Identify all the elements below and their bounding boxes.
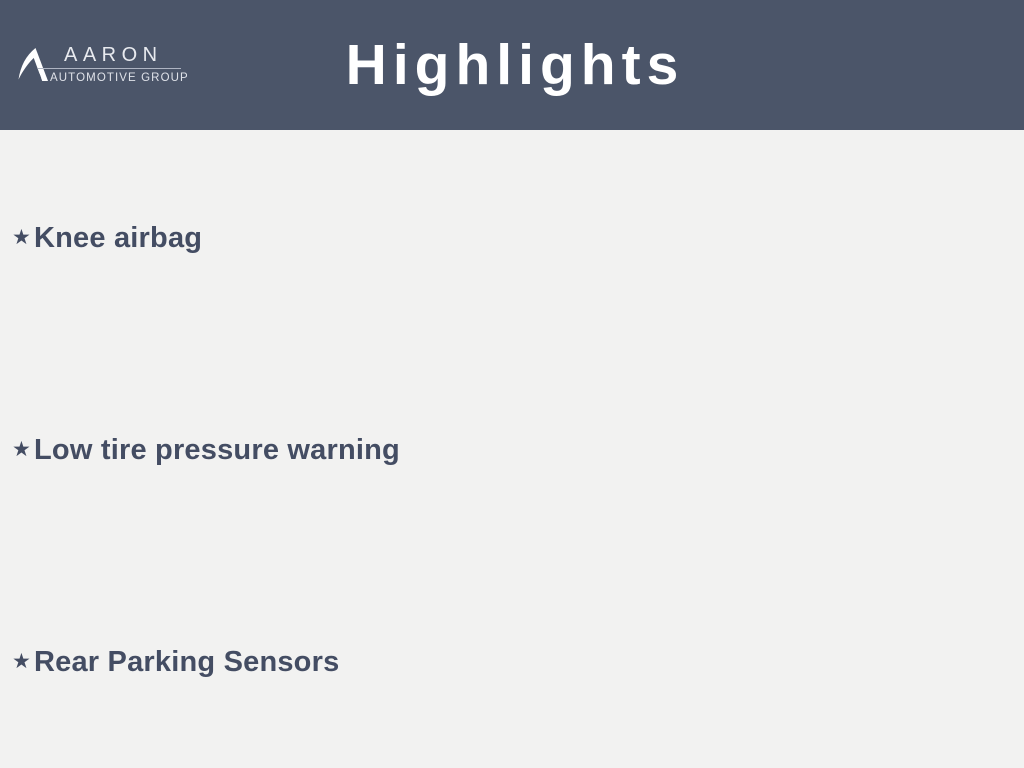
list-item[interactable]: ★ Low tire pressure warning [12, 431, 400, 469]
slide: Highlights AARON AUTOMOTIVE GROUP ★ Knee… [0, 0, 1024, 768]
star-bullet-icon: ★ [12, 431, 34, 469]
list-item[interactable]: ★ Rear Parking Sensors [12, 643, 339, 681]
logo-name: AARON [38, 44, 188, 67]
highlights-list: ★ Knee airbag ★ Low tire pressure warnin… [0, 130, 1024, 768]
star-bullet-icon: ★ [12, 643, 34, 681]
brand-logo[interactable]: AARON AUTOMOTIVE GROUP [8, 44, 188, 88]
list-item-label: Rear Parking Sensors [34, 643, 339, 681]
list-item[interactable]: ★ Knee airbag [12, 219, 202, 257]
logo-wordmark: AARON AUTOMOTIVE GROUP [38, 44, 188, 87]
list-item-label: Knee airbag [34, 219, 202, 257]
logo-subtitle: AUTOMOTIVE GROUP [38, 69, 188, 87]
list-item-label: Low tire pressure warning [34, 431, 400, 469]
star-bullet-icon: ★ [12, 219, 34, 257]
